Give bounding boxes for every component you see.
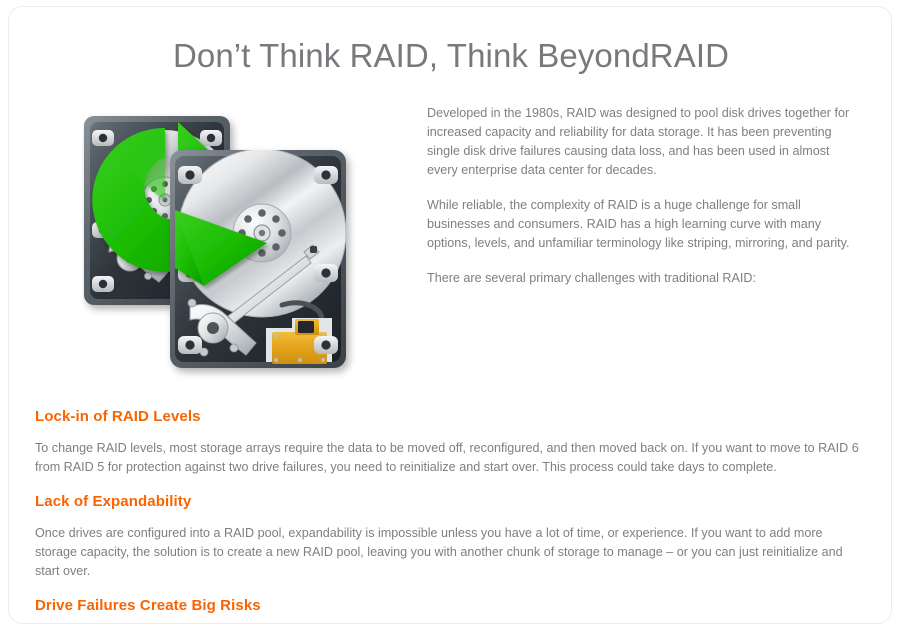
challenge-body: Once drives are configured into a RAID p…: [35, 524, 867, 581]
page-content: Don’t Think RAID, Think BeyondRAID: [9, 7, 892, 624]
hero-paragraph-2: While reliable, the complexity of RAID i…: [427, 196, 853, 253]
challenge-title: Lack of Expandability: [35, 493, 867, 510]
challenge-body: To change RAID levels, most storage arra…: [35, 439, 867, 477]
challenge-lock-in-of-raid-levels: Lock-in of RAID Levels To change RAID le…: [35, 408, 867, 477]
hero-paragraph-1: Developed in the 1980s, RAID was designe…: [427, 104, 853, 180]
challenge-title: Drive Failures Create Big Risks: [35, 597, 867, 614]
page-title: Don’t Think RAID, Think BeyondRAID: [27, 35, 875, 76]
hero-figure: [27, 98, 427, 392]
hard-drives-illustration: [82, 100, 372, 392]
challenge-drive-failures-create-big-risks: Drive Failures Create Big Risks When a d…: [35, 597, 867, 624]
challenge-title: Lock-in of RAID Levels: [35, 408, 867, 425]
hero-paragraph-3: There are several primary challenges wit…: [427, 269, 853, 288]
hero-section: Developed in the 1980s, RAID was designe…: [27, 98, 875, 392]
challenge-lack-of-expandability: Lack of Expandability Once drives are co…: [35, 493, 867, 581]
page-frame: Don’t Think RAID, Think BeyondRAID: [8, 6, 892, 624]
hero-text-column: Developed in the 1980s, RAID was designe…: [427, 98, 875, 288]
challenges-section: Lock-in of RAID Levels To change RAID le…: [27, 408, 875, 624]
